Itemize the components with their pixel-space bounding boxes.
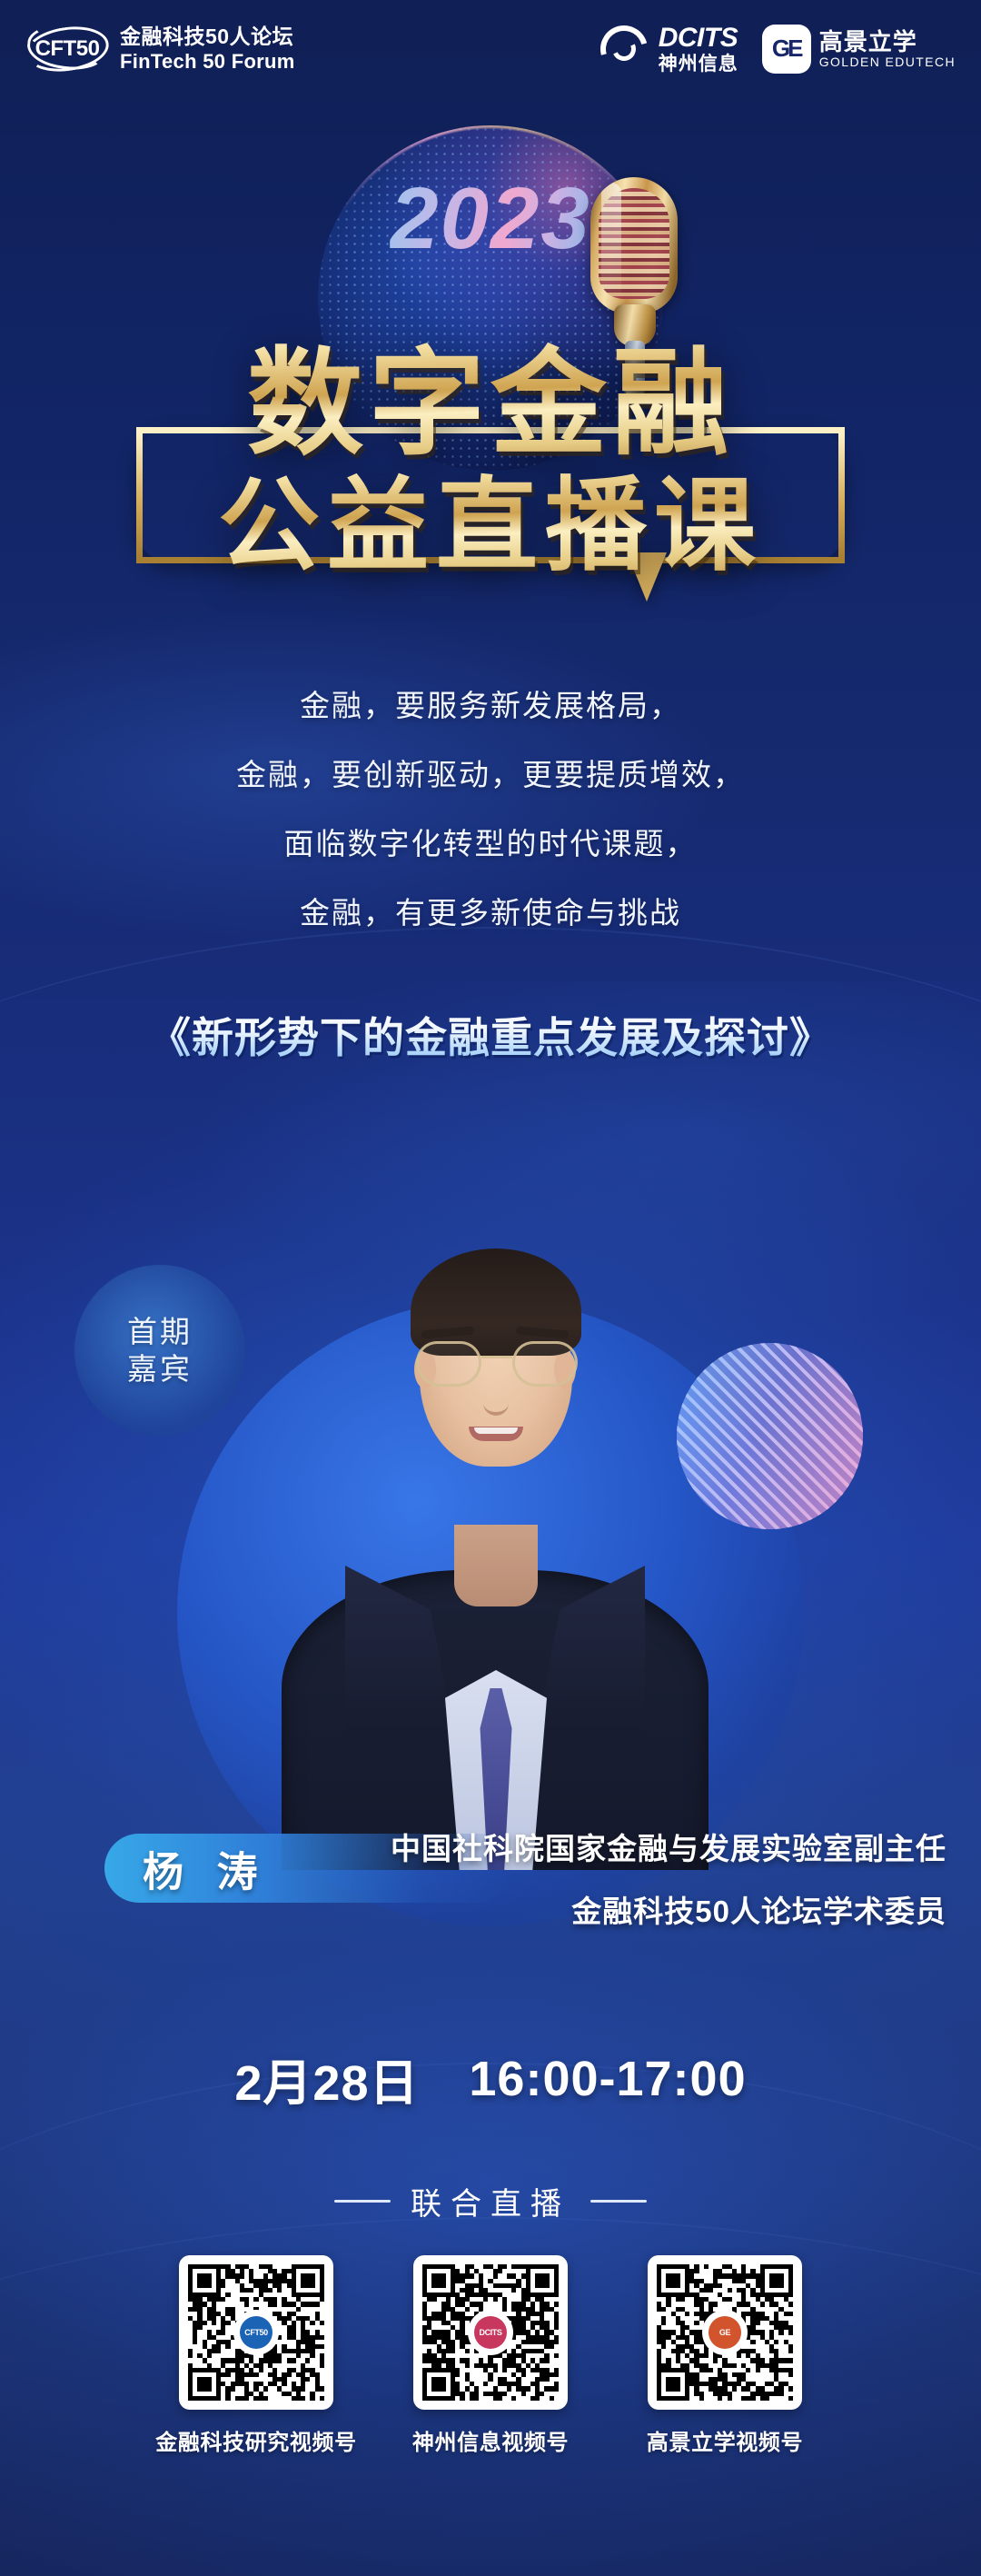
schedule-block: 2月28日 16:00-17:00 [0, 2043, 981, 2114]
qr-code-cft50-icon[interactable]: CFT50 [179, 2255, 333, 2410]
qr-caption-cft50: 金融科技研究视频号 [155, 2424, 356, 2456]
dcits-name-en: DCITS [659, 23, 738, 54]
poster-header: CFT50 金融科技50人论坛 FinTech 50 Forum DCITS 神… [0, 18, 981, 80]
qr-code-golden-icon[interactable]: GE [648, 2255, 802, 2410]
qr-item-cft50[interactable]: CFT50 金融科技研究视频号 [174, 2255, 338, 2456]
qr-item-dcits[interactable]: DCITS 神州信息视频号 [409, 2255, 572, 2456]
partner-logos: DCITS 神州信息 GE 高景立学 GOLDEN EDUTECH [599, 23, 956, 75]
lede-line-3: 面临数字化转型的时代课题， [0, 829, 981, 859]
dcits-logo: DCITS 神州信息 [599, 23, 738, 75]
qr-center-logo-cft50: CFT50 [236, 2312, 276, 2352]
qr-caption-dcits: 神州信息视频号 [412, 2424, 569, 2456]
first-guest-badge: 首期 嘉宾 [74, 1265, 245, 1436]
first-guest-badge-line2: 嘉宾 [127, 1354, 193, 1384]
schedule-date: 2月28日 [234, 2043, 419, 2114]
golden-edutech-mark-icon: GE [762, 25, 811, 74]
cft50-name-en: FinTech 50 Forum [120, 50, 295, 74]
joint-live-heading: 联合直播 [0, 2179, 981, 2223]
golden-edutech-logo: GE 高景立学 GOLDEN EDUTECH [762, 25, 956, 74]
qr-center-logo-golden: GE [705, 2312, 745, 2352]
topic-title: 《新形势下的金融重点发展及探讨》 [149, 1005, 832, 1065]
schedule-time: 16:00-17:00 [469, 2051, 746, 2107]
poster-canvas: CFT50 金融科技50人论坛 FinTech 50 Forum DCITS 神… [0, 0, 981, 2576]
topic-title-wrap: 《新形势下的金融重点发展及探讨》 [0, 1005, 981, 1065]
cft50-mark-icon: CFT50 [25, 24, 109, 75]
lede-line-1: 金融，要服务新发展格局， [0, 691, 981, 721]
lede-paragraph: 金融，要服务新发展格局， 金融，要创新驱动，更要提质增效， 面临数字化转型的时代… [0, 691, 981, 967]
golden-edutech-logo-text: 高景立学 GOLDEN EDUTECH [819, 29, 956, 69]
cft50-logo-text: 金融科技50人论坛 FinTech 50 Forum [120, 25, 295, 73]
cft50-logo: CFT50 金融科技50人论坛 FinTech 50 Forum [25, 24, 295, 75]
golden-name-zh: 高景立学 [819, 29, 956, 55]
qr-code-row: CFT50 金融科技研究视频号 DCITS 神州信息视频号 GE 高景立学视频号 [0, 2255, 981, 2456]
lede-line-2: 金融，要创新驱动，更要提质增效， [0, 760, 981, 790]
speaker-titles: 中国社科院国家金融与发展实验室副主任 金融科技50人论坛学术委员 [383, 1834, 946, 1959]
joint-live-rule-right [590, 2200, 647, 2203]
qr-item-golden[interactable]: GE 高景立学视频号 [643, 2255, 807, 2456]
first-guest-badge-line1: 首期 [127, 1317, 193, 1347]
golden-name-en: GOLDEN EDUTECH [819, 55, 956, 69]
dcits-logo-text: DCITS 神州信息 [659, 23, 738, 75]
speaker-portrait [282, 1198, 708, 1870]
qr-caption-golden: 高景立学视频号 [647, 2424, 803, 2456]
speaker-title-1: 中国社科院国家金融与发展实验室副主任 [383, 1834, 946, 1864]
cft50-mark-text: CFT50 [35, 36, 100, 62]
qr-code-dcits-icon[interactable]: DCITS [413, 2255, 568, 2410]
dcits-name-zh: 神州信息 [659, 54, 738, 75]
joint-live-label: 联合直播 [411, 2179, 570, 2223]
hero-title-line2-wrap: 公益直播课 [0, 443, 981, 591]
hero-year: 2023 [390, 169, 591, 269]
lede-line-4: 金融，有更多新使命与挑战 [0, 898, 981, 928]
speaker-name: 杨 涛 [143, 1839, 269, 1898]
hero-title-line2: 公益直播课 [218, 443, 763, 591]
cft50-name-zh: 金融科技50人论坛 [120, 25, 295, 49]
speaker-title-2: 金融科技50人论坛学术委员 [383, 1896, 946, 1926]
qr-center-logo-dcits: DCITS [471, 2312, 510, 2352]
joint-live-rule-left [334, 2200, 391, 2203]
dcits-swirl-icon [599, 24, 649, 75]
